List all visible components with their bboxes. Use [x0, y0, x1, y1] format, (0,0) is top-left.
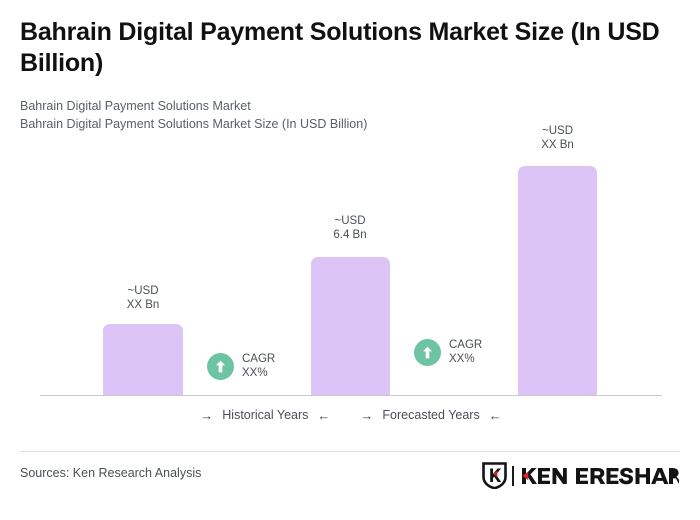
footer-divider — [20, 451, 680, 452]
period-historical: → Historical Years ← — [200, 408, 330, 422]
bar-value-label-1-line1: ~USD — [103, 284, 183, 298]
arrow-up-icon — [215, 360, 226, 373]
cagr-circle-2 — [414, 339, 441, 366]
bar-value-label-2-line1: ~USD — [310, 214, 390, 228]
cagr-value-2: XX% — [449, 352, 482, 366]
period-legend: → Historical Years ← → Forecasted Years … — [40, 408, 662, 422]
arrow-up-icon — [422, 346, 433, 359]
bar-value-label-2-line2: 6.4 Bn — [310, 228, 390, 242]
cagr-badge-1: CAGR XX% — [207, 352, 275, 380]
period-forecasted-label: Forecasted Years — [382, 408, 479, 422]
arrow-left-icon: ← — [317, 409, 330, 422]
chart-page: Bahrain Digital Payment Solutions Market… — [0, 0, 700, 520]
cagr-text-1: CAGR XX% — [242, 352, 275, 380]
cagr-badge-2: CAGR XX% — [414, 338, 482, 366]
arrow-left-icon: ← — [489, 409, 502, 422]
bar-value-label-2: ~USD 6.4 Bn — [310, 214, 390, 242]
cagr-label-1: CAGR — [242, 352, 275, 366]
bar-value-label-3-line1: ~USD — [518, 124, 597, 138]
arrow-right-icon: → — [360, 409, 373, 422]
cagr-value-1: XX% — [242, 366, 275, 380]
bar-3[interactable] — [518, 166, 597, 395]
cagr-circle-1 — [207, 353, 234, 380]
bar-value-label-3: ~USD XX Bn — [518, 124, 597, 152]
cagr-label-2: CAGR — [449, 338, 482, 352]
logo-wordmark — [519, 465, 679, 487]
bar-1[interactable] — [103, 324, 183, 395]
ken-research-wordmark-icon — [519, 465, 679, 487]
chart-plot-area: ~USD XX Bn CAGR XX% ~USD 6.4 Bn — [0, 0, 700, 400]
period-historical-label: Historical Years — [222, 408, 308, 422]
ken-research-shield-icon — [482, 462, 507, 489]
ken-research-logo — [482, 462, 679, 489]
arrow-right-icon: → — [200, 409, 213, 422]
bar-value-label-3-line2: XX Bn — [518, 138, 597, 152]
bar-value-label-1: ~USD XX Bn — [103, 284, 183, 312]
bar-value-label-1-line2: XX Bn — [103, 298, 183, 312]
logo-divider — [512, 466, 514, 486]
cagr-text-2: CAGR XX% — [449, 338, 482, 366]
bar-2[interactable] — [311, 257, 390, 395]
sources-text: Sources: Ken Research Analysis — [20, 466, 201, 480]
period-forecasted: → Forecasted Years ← — [360, 408, 501, 422]
x-axis-line — [40, 395, 662, 396]
